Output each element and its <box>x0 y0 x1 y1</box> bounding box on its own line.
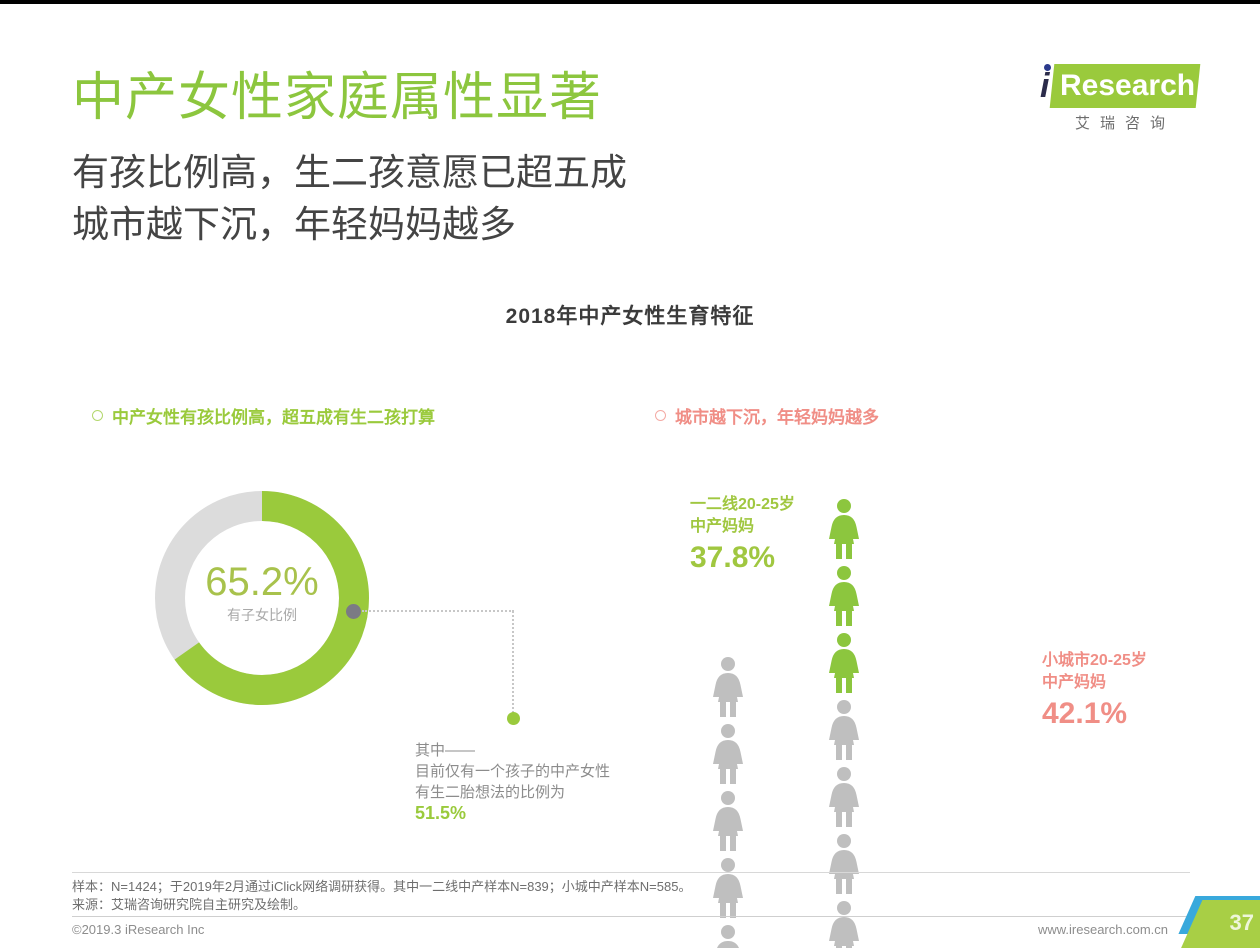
female-figure-icon <box>828 900 860 948</box>
section-heading-left: 中产女性有孩比例高，超五成有生二孩打算 <box>92 403 435 428</box>
connector-line-horizontal <box>362 610 514 612</box>
footer-source-note: 来源：艾瑞咨询研究院自主研究及绘制。 <box>72 896 691 914</box>
female-figure-icon <box>828 766 860 828</box>
page-subtitle-line1: 有孩比例高，生二孩意愿已超五成 <box>72 148 627 198</box>
pictogram-value-tier1: 37.8% <box>690 540 795 576</box>
top-black-bar <box>0 0 1260 4</box>
iresearch-logo: i Research 艾瑞咨询 <box>1030 62 1200 142</box>
footer-copyright: ©2019.3 iResearch Inc <box>72 922 204 937</box>
footer-divider-bottom <box>72 916 1190 917</box>
female-figure-icon <box>828 699 860 761</box>
pictogram-value-smallcity: 42.1% <box>1042 696 1147 732</box>
pictogram-label-smallcity: 小城市20-25岁 中产妈妈 42.1% <box>1042 650 1147 732</box>
donut-chart: 65.2% 有子女比例 <box>148 484 376 712</box>
footer-sample-note: 样本：N=1424；于2019年2月通过iClick网络调研获得。其中一二线中产… <box>72 878 691 896</box>
section-heading-right-label: 城市越下沉，年轻妈妈越多 <box>675 408 879 427</box>
pictogram-label-line1: 一二线20-25岁 <box>690 494 795 516</box>
bullet-circle-icon <box>92 410 103 421</box>
bullet-circle-icon <box>655 410 666 421</box>
annotation-line-1: 其中—— <box>415 740 610 761</box>
chart-title: 2018年中产女性生育特征 <box>0 300 1260 330</box>
female-figure-icon <box>712 790 744 852</box>
pictogram-label-line2: 中产妈妈 <box>1042 672 1147 694</box>
female-figure-icon <box>712 924 744 948</box>
connector-line-vertical <box>512 611 514 717</box>
section-heading-right: 城市越下沉，年轻妈妈越多 <box>655 403 879 428</box>
page-number: 37 <box>1230 910 1254 936</box>
logo-wordmark: Research <box>1060 68 1195 104</box>
connector-dot-gray <box>346 604 361 619</box>
female-figure-icon <box>712 723 744 785</box>
pictogram-figures-tier1 <box>828 498 864 948</box>
female-figure-icon <box>712 857 744 919</box>
donut-percent-value: 65.2% <box>148 560 376 604</box>
donut-caption: 有子女比例 <box>148 604 376 626</box>
footer-notes: 样本：N=1424；于2019年2月通过iClick网络调研获得。其中一二线中产… <box>72 878 691 914</box>
logo-letter-i: i <box>1040 66 1049 106</box>
logo-chinese-name: 艾瑞咨询 <box>1052 112 1198 133</box>
annotation-line-3: 有生二胎想法的比例为 <box>415 782 610 803</box>
connector-dot-green <box>507 712 520 725</box>
annotation-value: 51.5% <box>415 803 610 824</box>
footer-website: www.iresearch.com.cn <box>1038 922 1168 937</box>
female-figure-icon <box>712 656 744 718</box>
female-figure-icon <box>828 632 860 694</box>
footer-divider-top <box>72 872 1190 873</box>
female-figure-icon <box>828 498 860 560</box>
annotation-block: 其中—— 目前仅有一个孩子的中产女性 有生二胎想法的比例为 51.5% <box>415 740 610 824</box>
pictogram-label-line2: 中产妈妈 <box>690 516 795 538</box>
section-heading-left-label: 中产女性有孩比例高，超五成有生二孩打算 <box>112 408 435 427</box>
pictogram-figures-smallcity <box>712 656 748 948</box>
pictogram-label-tier1: 一二线20-25岁 中产妈妈 37.8% <box>690 494 795 576</box>
page-title: 中产女性家庭属性显著 <box>72 68 602 128</box>
donut-center-text: 65.2% 有子女比例 <box>148 560 376 626</box>
slide-root: 中产女性家庭属性显著 有孩比例高，生二孩意愿已超五成 城市越下沉，年轻妈妈越多 … <box>0 0 1260 948</box>
page-subtitle-line2: 城市越下沉，年轻妈妈越多 <box>72 200 516 250</box>
pictogram-label-line1: 小城市20-25岁 <box>1042 650 1147 672</box>
annotation-line-2: 目前仅有一个孩子的中产女性 <box>415 761 610 782</box>
female-figure-icon <box>828 833 860 895</box>
female-figure-icon <box>828 565 860 627</box>
